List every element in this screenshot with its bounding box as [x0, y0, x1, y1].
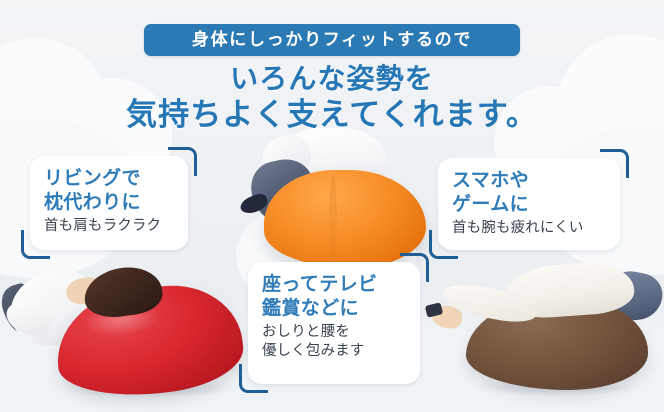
card-subtitle: 首も腕も疲れにくい: [452, 219, 606, 238]
card-subtitle-line-1: おしりと腰を: [262, 323, 406, 342]
header-badge: 身体にしっかりフィットするので: [144, 24, 520, 56]
headline-line-1: いろんな姿勢を: [0, 62, 664, 95]
card-title-line-2: 枕代わりに: [44, 191, 174, 215]
card-subtitle-line-1: 首も腕も疲れにくい: [452, 219, 606, 238]
feature-card-sitting-tv: 座ってテレビ 鑑賞などに おしりと腰を 優しく包みます: [248, 262, 420, 384]
card-title: 座ってテレビ 鑑賞などに: [262, 273, 406, 320]
card-title-line-1: リビングで: [44, 167, 174, 191]
photo-smartphone-game: [420, 258, 664, 412]
header-badge-label: 身体にしっかりフィットするので: [192, 32, 472, 49]
card-subtitle-line-1: 首も肩もラクラク: [44, 217, 174, 236]
photo-sitting-tv: [236, 128, 436, 273]
page-title: いろんな姿勢を 気持ちよく支えてくれます。: [0, 62, 664, 134]
card-content: リビングで 枕代わりに 首も肩もラクラク: [30, 156, 188, 250]
card-title-line-2: ゲームに: [452, 193, 606, 217]
corner-bracket-bottom-left-icon: [239, 364, 268, 393]
card-subtitle-line-2: 優しく包みます: [262, 342, 406, 361]
card-title: リビングで 枕代わりに: [44, 167, 174, 214]
corner-bracket-top-right-icon: [168, 147, 197, 176]
corner-bracket-top-right-icon: [400, 253, 429, 282]
corner-bracket-bottom-left-icon: [21, 230, 50, 259]
card-title-line-1: スマホや: [452, 169, 606, 193]
feature-card-living-pillow: リビングで 枕代わりに 首も肩もラクラク: [30, 156, 188, 250]
corner-bracket-bottom-left-icon: [429, 230, 458, 259]
card-title-line-2: 鑑賞などに: [262, 297, 406, 321]
feature-card-smartphone-game: スマホや ゲームに 首も腕も疲れにくい: [438, 158, 620, 250]
card-subtitle: 首も肩もラクラク: [44, 217, 174, 236]
card-content: スマホや ゲームに 首も腕も疲れにくい: [438, 158, 620, 250]
card-title-line-1: 座ってテレビ: [262, 273, 406, 297]
card-subtitle: おしりと腰を 優しく包みます: [262, 323, 406, 360]
corner-bracket-top-right-icon: [600, 149, 629, 178]
promo-banner: 身体にしっかりフィットするので いろんな姿勢を 気持ちよく支えてくれます。: [0, 0, 664, 412]
card-title: スマホや ゲームに: [452, 169, 606, 216]
photo-living-pillow: [4, 250, 254, 412]
card-content: 座ってテレビ 鑑賞などに おしりと腰を 優しく包みます: [248, 262, 420, 384]
